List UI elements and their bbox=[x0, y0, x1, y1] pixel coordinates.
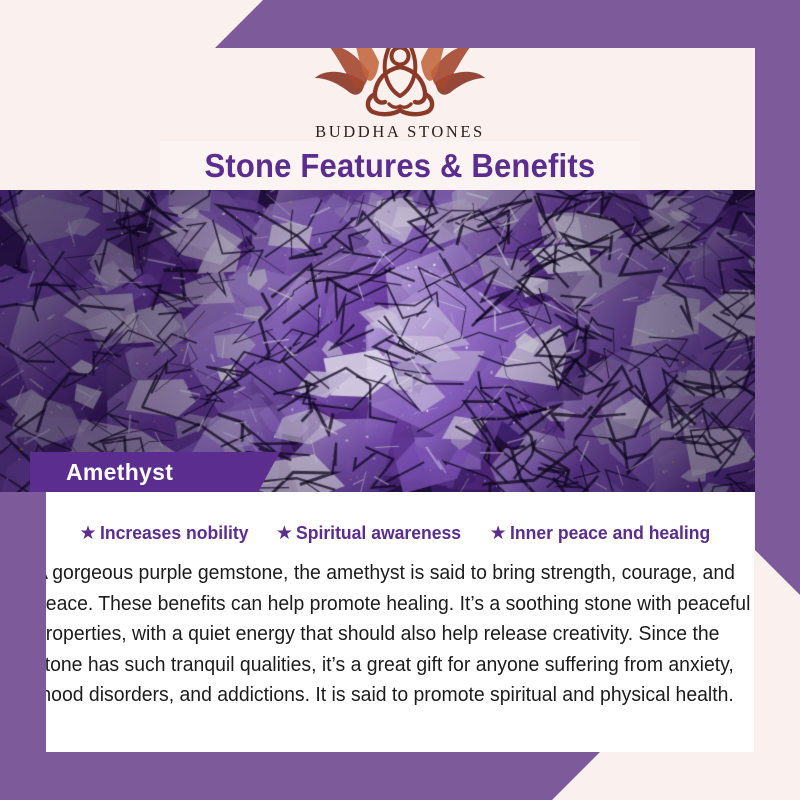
stone-info-card: BUDDHA STONES Stone Features & Benefits … bbox=[0, 0, 800, 800]
benefits-list: ★ Increases nobility ★ Spiritual awarene… bbox=[46, 516, 754, 550]
frame-band-bottom bbox=[0, 752, 600, 800]
frame-band-top bbox=[215, 0, 800, 48]
amethyst-crystal-cluster-image bbox=[0, 190, 800, 492]
page-title: Stone Features & Benefits bbox=[205, 147, 596, 185]
star-icon: ★ bbox=[276, 524, 293, 543]
star-icon: ★ bbox=[80, 524, 97, 543]
stone-name-label: Amethyst bbox=[30, 459, 173, 486]
benefit-label-1: Spiritual awareness bbox=[296, 522, 461, 544]
benefit-item-0: ★ Increases nobility bbox=[80, 522, 256, 544]
title-banner: Stone Features & Benefits bbox=[160, 141, 640, 190]
benefit-item-2: ★ Inner peace and healing bbox=[490, 522, 721, 544]
benefit-label-2: Inner peace and healing bbox=[510, 522, 710, 544]
frame-band-right bbox=[755, 0, 800, 595]
hero-image-amethyst bbox=[0, 190, 800, 492]
star-icon: ★ bbox=[490, 524, 507, 543]
brand-name: BUDDHA STONES bbox=[0, 122, 800, 142]
benefit-item-1: ★ Spiritual awareness bbox=[276, 522, 470, 544]
stone-name-ribbon: Amethyst bbox=[30, 452, 280, 492]
stone-description: A gorgeous purple gemstone, the amethyst… bbox=[35, 558, 753, 711]
benefit-label-0: Increases nobility bbox=[100, 522, 248, 544]
